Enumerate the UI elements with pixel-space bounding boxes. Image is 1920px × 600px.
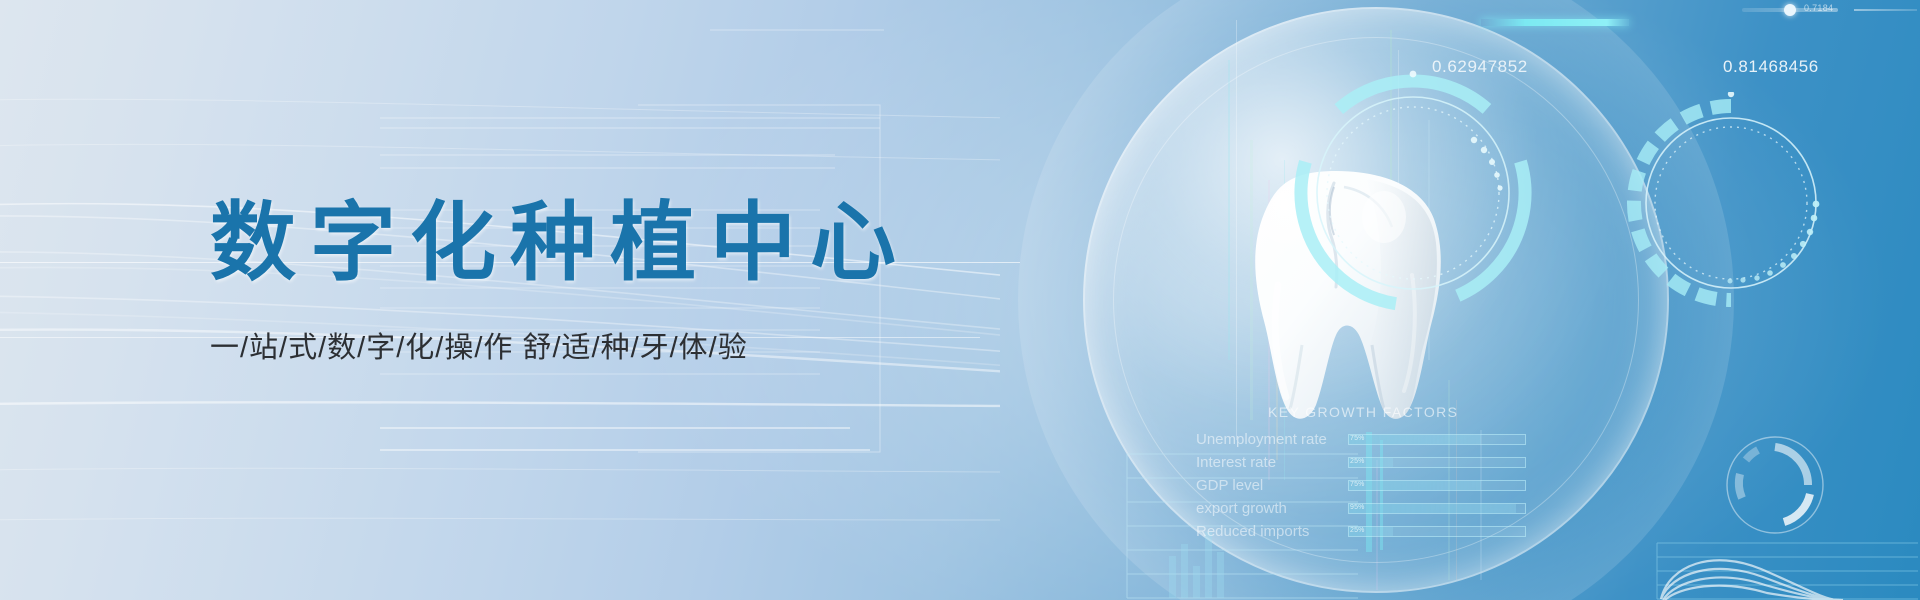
slider-track-tail: [1854, 9, 1917, 11]
kgf-row: GDP level 75%: [1196, 477, 1526, 495]
headline-block: 数字化种植中心 一/站/式/数/字/化/操/作 舒/适/种/牙/体/验: [210, 200, 910, 366]
kgf-row-percent: 25%: [1350, 527, 1365, 534]
dental-center-banner: 0.62947852 0.81468456 0.7184: [0, 0, 1920, 600]
hud-value-right: 0.81468456: [1723, 57, 1819, 77]
kgf-row-bar: [1348, 457, 1526, 468]
ring-small-gauge: [1722, 432, 1828, 538]
kgf-rows: Unemployment rate 75% Interest rate 25% …: [1196, 431, 1526, 546]
kgf-row-bar: [1348, 526, 1526, 537]
kgf-title: KEY GROWTH FACTORS: [1268, 404, 1458, 420]
kgf-row-bar: [1348, 480, 1526, 491]
slider-value-label: 0.7184: [1804, 3, 1833, 13]
ring-left-dashed-arc: [1288, 68, 1538, 318]
kgf-row-bar: [1348, 434, 1526, 445]
kgf-row: export growth 95%: [1196, 500, 1526, 518]
kgf-row-label: export growth: [1196, 500, 1287, 517]
hud-slider[interactable]: 0.7184: [1742, 3, 1917, 17]
kgf-row-percent: 95%: [1350, 504, 1365, 511]
kgf-row-bar: [1348, 503, 1526, 514]
kgf-row: Reduced imports 25%: [1196, 523, 1526, 541]
hud-value-left: 0.62947852: [1432, 57, 1528, 77]
kgf-row-percent: 75%: [1350, 435, 1365, 442]
kgf-row: Unemployment rate 75%: [1196, 431, 1526, 449]
page-subtitle: 一/站/式/数/字/化/操/作 舒/适/种/牙/体/验: [210, 324, 910, 366]
kgf-row-percent: 25%: [1350, 458, 1365, 465]
grid-block-right: [1655, 535, 1920, 600]
page-title: 数字化种植中心: [210, 200, 910, 286]
kgf-row-label: Unemployment rate: [1196, 431, 1327, 448]
kgf-row-label: GDP level: [1196, 477, 1263, 494]
accent-bar: [1481, 19, 1629, 26]
kgf-row-percent: 75%: [1350, 481, 1365, 488]
kgf-row-label: Reduced imports: [1196, 523, 1309, 540]
ring-right-dashed-arc: [1620, 92, 1842, 314]
slider-knob[interactable]: [1784, 4, 1796, 16]
kgf-row-label: Interest rate: [1196, 454, 1276, 471]
kgf-row: Interest rate 25%: [1196, 454, 1526, 472]
